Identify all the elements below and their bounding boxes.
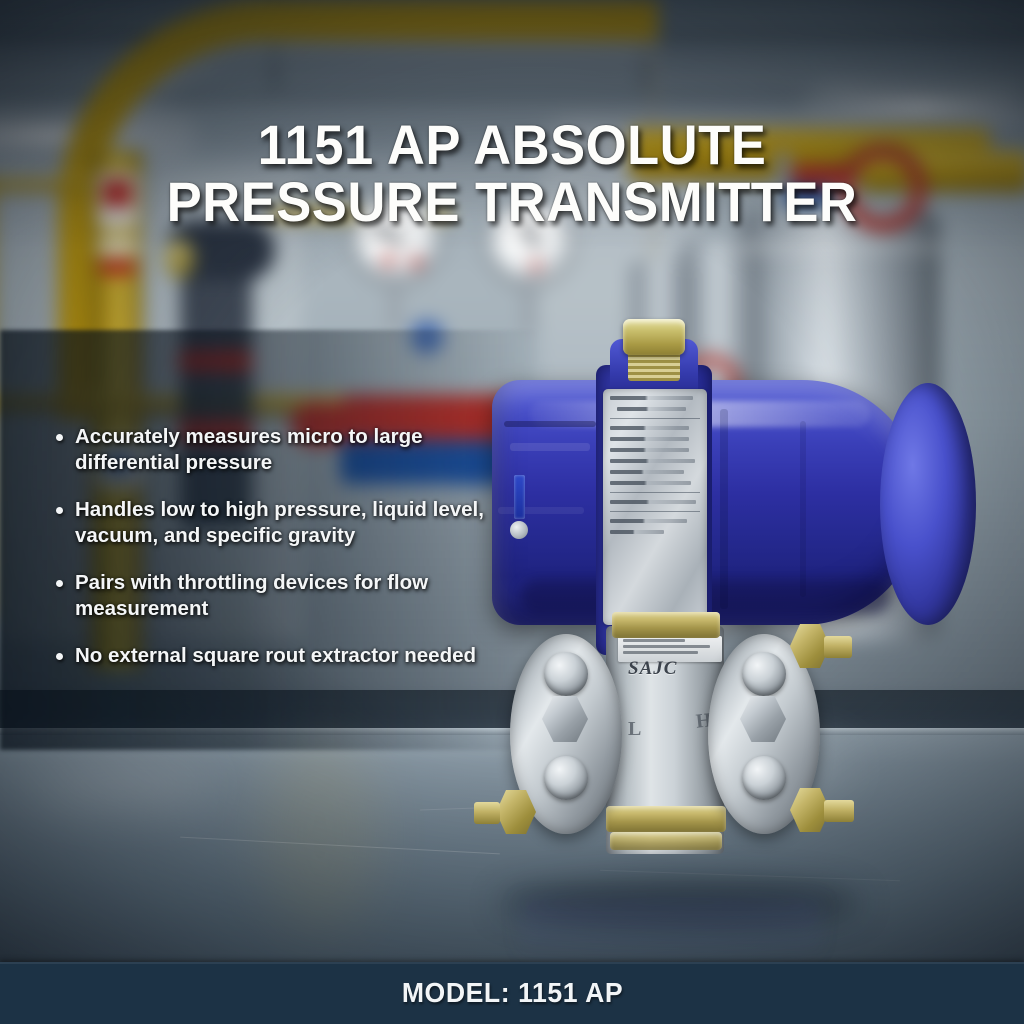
feature-item: No external square rout extractor needed bbox=[48, 643, 484, 669]
feature-item: Pairs with throttling devices for flow m… bbox=[48, 570, 484, 622]
nameplate-text-line bbox=[610, 426, 689, 430]
process-port-right bbox=[824, 800, 854, 822]
housing-end-cap bbox=[880, 383, 976, 625]
nameplate-text-line bbox=[610, 437, 689, 441]
flange-bolt bbox=[742, 756, 786, 800]
brand-plate-line bbox=[623, 639, 685, 642]
feature-list: Accurately measures micro to large diffe… bbox=[48, 424, 484, 669]
nameplate-text-line bbox=[610, 448, 689, 452]
nameplate-text-line bbox=[610, 530, 664, 534]
low-port-mark: L bbox=[628, 718, 641, 741]
brass-crossbar-bottom2 bbox=[610, 832, 722, 850]
feature-item: Accurately measures micro to large diffe… bbox=[48, 424, 484, 476]
specification-nameplate bbox=[603, 389, 707, 625]
housing-seam bbox=[720, 409, 728, 609]
flange-bolt bbox=[544, 756, 588, 800]
title-line-2: PRESSURE TRANSMITTER bbox=[31, 173, 994, 230]
bolt-threading bbox=[628, 351, 680, 381]
nameplate-text-line bbox=[610, 481, 691, 485]
brand-plate-line bbox=[623, 651, 698, 654]
zero-adjust-indicator bbox=[514, 475, 525, 519]
nameplate-text-line bbox=[610, 500, 696, 504]
nameplate-text-line bbox=[617, 407, 685, 411]
brass-crossbar-top bbox=[612, 612, 720, 638]
model-label: MODEL: 1151 AP bbox=[401, 977, 622, 1009]
adjust-screw bbox=[510, 521, 528, 539]
housing-rib bbox=[510, 443, 590, 451]
page-title: 1151 AP ABSOLUTE PRESSURE TRANSMITTER bbox=[31, 116, 994, 230]
brand-mark: SAJC bbox=[628, 658, 677, 680]
housing-seam bbox=[800, 421, 806, 597]
nameplate-divider bbox=[610, 511, 700, 512]
housing-rib bbox=[498, 507, 584, 514]
housing-groove bbox=[504, 421, 596, 427]
nameplate-text-line bbox=[610, 459, 695, 463]
footer-top-rule bbox=[0, 962, 1024, 964]
nameplate-divider bbox=[610, 492, 700, 493]
brass-crossbar-bottom bbox=[606, 806, 726, 832]
nameplate-text-line bbox=[610, 470, 684, 474]
process-port-left bbox=[474, 802, 500, 824]
model-footer-bar: MODEL: 1151 AP bbox=[0, 962, 1024, 1024]
nameplate-text-line bbox=[610, 396, 693, 400]
process-port-upper-right bbox=[824, 636, 852, 658]
nameplate-text-line bbox=[610, 519, 687, 523]
product-marketing-image: SAJC L H bbox=[0, 0, 1024, 1024]
product-reflection bbox=[520, 900, 820, 960]
feature-item: Handles low to high pressure, liquid lev… bbox=[48, 497, 484, 549]
title-line-1: 1151 AP ABSOLUTE bbox=[31, 116, 994, 173]
nameplate-divider bbox=[610, 418, 700, 419]
flange-bolt bbox=[544, 652, 588, 696]
flange-bolt bbox=[742, 652, 786, 696]
pressure-transmitter-product: SAJC L H bbox=[470, 325, 970, 925]
brand-plate-line bbox=[623, 645, 710, 648]
brass-top-bolt bbox=[623, 319, 685, 355]
flange-base-assembly: SAJC L H bbox=[500, 610, 830, 865]
